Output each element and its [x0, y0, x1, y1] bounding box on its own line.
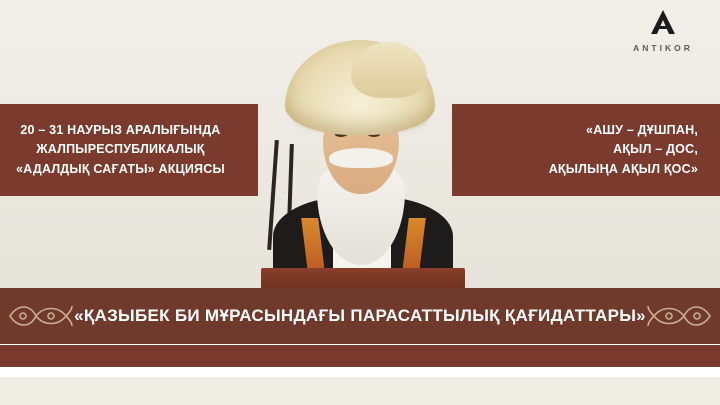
- portrait-base: [261, 268, 465, 290]
- poster-title: «ҚАЗЫБЕК БИ МҰРАСЫНДАҒЫ ПАРАСАТТЫЛЫҚ ҚАҒ…: [74, 306, 646, 326]
- portrait-hat: [285, 40, 435, 135]
- bottom-white-band: [0, 367, 720, 377]
- floral-ornament-icon: [6, 296, 74, 336]
- antikor-logo: ANTIKOR: [624, 8, 702, 56]
- right-ribbon-text: «АШУ – ДҰШПАН, АҚЫЛ – ДОС, АҚЫЛЫҢА АҚЫЛ …: [549, 121, 698, 179]
- left-ribbon-text: 20 – 31 НАУРЫЗ АРАЛЫҒЫНДА ЖАЛПЫРЕСПУБЛИК…: [16, 121, 225, 179]
- antikor-a-mark-icon: [624, 8, 702, 36]
- portrait-hat-crown: [351, 42, 427, 98]
- kazybek-bi-portrait: [255, 20, 470, 275]
- right-ribbon: «АШУ – ДҰШПАН, АҚЫЛ – ДОС, АҚЫЛЫҢА АҚЫЛ …: [452, 104, 720, 196]
- title-bar: «ҚАЗЫБЕК БИ МҰРАСЫНДАҒЫ ПАРАСАТТЫЛЫҚ ҚАҒ…: [0, 288, 720, 344]
- left-ribbon: 20 – 31 НАУРЫЗ АРАЛЫҒЫНДА ЖАЛПЫРЕСПУБЛИК…: [0, 104, 258, 196]
- poster-canvas: 20 – 31 НАУРЫЗ АРАЛЫҒЫНДА ЖАЛПЫРЕСПУБЛИК…: [0, 0, 720, 405]
- bottom-base-band: [0, 377, 720, 405]
- antikor-logo-text: ANTIKOR: [624, 43, 702, 53]
- portrait-mustache: [329, 148, 393, 168]
- bottom-accent-band: [0, 345, 720, 367]
- floral-ornament-icon: [646, 296, 714, 336]
